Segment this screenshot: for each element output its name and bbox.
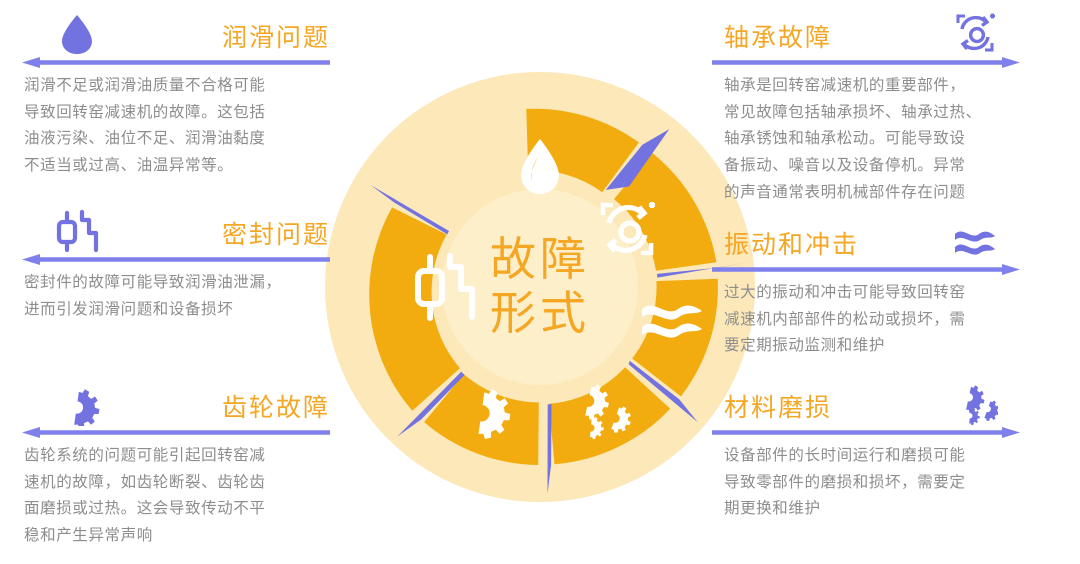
block-lubrication[interactable]: 润滑问题 润滑不足或润滑油质量不合格可能 导致回转窑减速机的故障。这包括 油液污… <box>18 8 330 180</box>
arrow-left <box>18 57 330 68</box>
bearing-rotation-icon <box>952 12 998 56</box>
block-body: 设备部件的长时间运行和磨损可能 导致零部件的磨损和损坏，需要定 期更换和维护 <box>712 443 1024 523</box>
valve-seal-icon <box>54 209 100 253</box>
block-header-vibration: 振动和冲击 <box>712 215 1024 263</box>
infographic-canvas: 故障 形式 润滑问题 润滑不足或润滑油质量不合格可能 导致回转窑减速机的故障。这… <box>0 0 1080 564</box>
block-title: 振动和冲击 <box>724 225 859 261</box>
arrow-right <box>712 57 1024 68</box>
block-title: 齿轮故障 <box>222 388 330 424</box>
block-header-seal: 密封问题 <box>18 205 330 253</box>
block-body: 齿轮系统的问题可能引起回转窑减 速机的故障，如齿轮断裂、齿轮齿 面磨损或过热。这… <box>18 443 330 550</box>
block-body: 密封件的故障可能导致润滑油泄漏， 进而引发润滑问题和设备损坏 <box>18 270 330 323</box>
block-title: 轴承故障 <box>724 18 832 54</box>
arrow-right <box>712 427 1024 438</box>
block-title: 密封问题 <box>222 215 330 251</box>
multi-gear-icon <box>952 382 998 426</box>
block-gear[interactable]: 齿轮故障 齿轮系统的问题可能引起回转窑减 速机的故障，如齿轮断裂、齿轮齿 面磨损… <box>18 378 330 550</box>
block-wear[interactable]: 材料磨损 设备部件的长时间运行和磨损可能 导致零部件的磨损和损坏，需要定 期更换… <box>712 378 1024 523</box>
arrow-left <box>18 427 330 438</box>
arrow-right <box>712 264 1024 275</box>
gear-icon <box>54 382 100 426</box>
block-body: 轴承是回转窑减速机的重要部件， 常见故障包括轴承损坏、轴承过热、 轴承锈蚀和轴承… <box>712 73 1024 206</box>
block-title: 材料磨损 <box>724 388 832 424</box>
block-header-bearing: 轴承故障 <box>712 8 1024 56</box>
vibration-wave-icon <box>952 219 998 263</box>
arrow-left <box>18 254 330 265</box>
block-body: 润滑不足或润滑油质量不合格可能 导致回转窑减速机的故障。这包括 油液污染、油位不… <box>18 73 330 180</box>
block-header-gear: 齿轮故障 <box>18 378 330 426</box>
oil-drop-icon <box>54 12 100 56</box>
block-title: 润滑问题 <box>222 18 330 54</box>
block-vibration[interactable]: 振动和冲击 过大的振动和冲击可能导致回转窑 减速机内部部件的松动或损坏，需 要定… <box>712 215 1024 360</box>
block-header-lubrication: 润滑问题 <box>18 8 330 56</box>
block-body: 过大的振动和冲击可能导致回转窑 减速机内部部件的松动或损坏，需 要定期振动监测和… <box>712 280 1024 360</box>
block-header-wear: 材料磨损 <box>712 378 1024 426</box>
fault-mode-donut-wheel: 故障 形式 <box>325 72 755 502</box>
block-seal[interactable]: 密封问题 密封件的故障可能导致润滑油泄漏， 进而引发润滑问题和设备损坏 <box>18 205 330 323</box>
block-bearing[interactable]: 轴承故障 轴承是回转窑减速机的重要部件， 常见故障包括轴承损坏、轴承过热、 轴承… <box>712 8 1024 206</box>
